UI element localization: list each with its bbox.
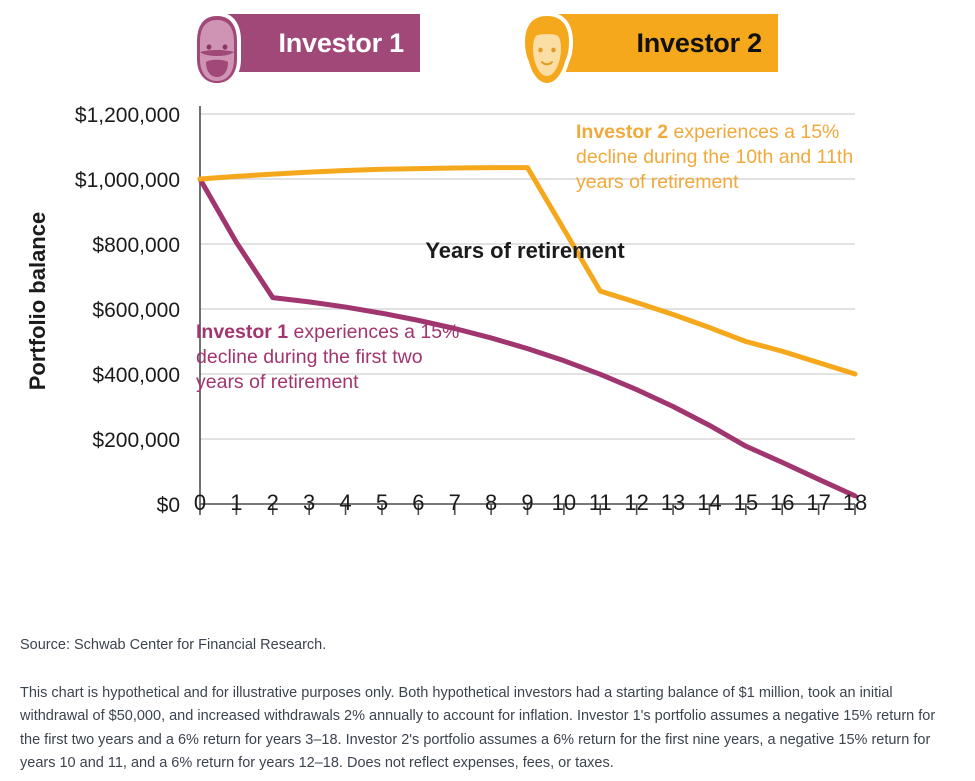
x-tick-label: 3 bbox=[289, 492, 329, 514]
x-tick-label: 14 bbox=[689, 492, 729, 514]
x-tick-label: 10 bbox=[544, 492, 584, 514]
chart-plot: Portfolio balance $1,200,000 $1,000,000 … bbox=[0, 92, 975, 582]
legend-badge-investor-1: Investor 1 bbox=[220, 14, 420, 72]
annotation-investor-2-bold: Investor 2 bbox=[576, 121, 668, 143]
x-tick-label: 15 bbox=[726, 492, 766, 514]
legend-badge-investor-2: Investor 2 bbox=[550, 14, 778, 72]
x-tick-label: 16 bbox=[762, 492, 802, 514]
female-avatar-icon bbox=[516, 12, 578, 88]
x-tick-label: 5 bbox=[362, 492, 402, 514]
legend-label-investor-1: Investor 1 bbox=[278, 30, 404, 57]
chart-legend: Investor 1 Investor 2 bbox=[0, 0, 975, 92]
x-axis-title: Years of retirement bbox=[180, 238, 870, 264]
x-tick-label: 17 bbox=[799, 492, 839, 514]
x-axis-tick-labels: 0123456789101112131415161718 bbox=[0, 384, 975, 464]
annotation-investor-1-bold: Investor 1 bbox=[196, 321, 288, 343]
legend-label-investor-2: Investor 2 bbox=[636, 30, 762, 57]
x-tick-label: 6 bbox=[398, 492, 438, 514]
annotation-investor-2: Investor 2 experiences a 15% decline dur… bbox=[576, 120, 862, 195]
disclaimer-note: This chart is hypothetical and for illus… bbox=[20, 682, 955, 776]
annotation-investor-1: Investor 1 experiences a 15% decline dur… bbox=[196, 320, 464, 395]
x-tick-label: 13 bbox=[653, 492, 693, 514]
x-tick-label: 9 bbox=[508, 492, 548, 514]
source-note: Source: Schwab Center for Financial Rese… bbox=[20, 637, 326, 653]
x-tick-label: 11 bbox=[580, 492, 620, 514]
x-tick-label: 2 bbox=[253, 492, 293, 514]
x-tick-label: 4 bbox=[326, 492, 366, 514]
male-avatar-icon bbox=[186, 12, 248, 88]
x-tick-label: 8 bbox=[471, 492, 511, 514]
x-tick-label: 0 bbox=[180, 492, 220, 514]
x-tick-label: 12 bbox=[617, 492, 657, 514]
x-tick-label: 7 bbox=[435, 492, 475, 514]
x-tick-label: 18 bbox=[835, 492, 875, 514]
x-tick-label: 1 bbox=[216, 492, 256, 514]
